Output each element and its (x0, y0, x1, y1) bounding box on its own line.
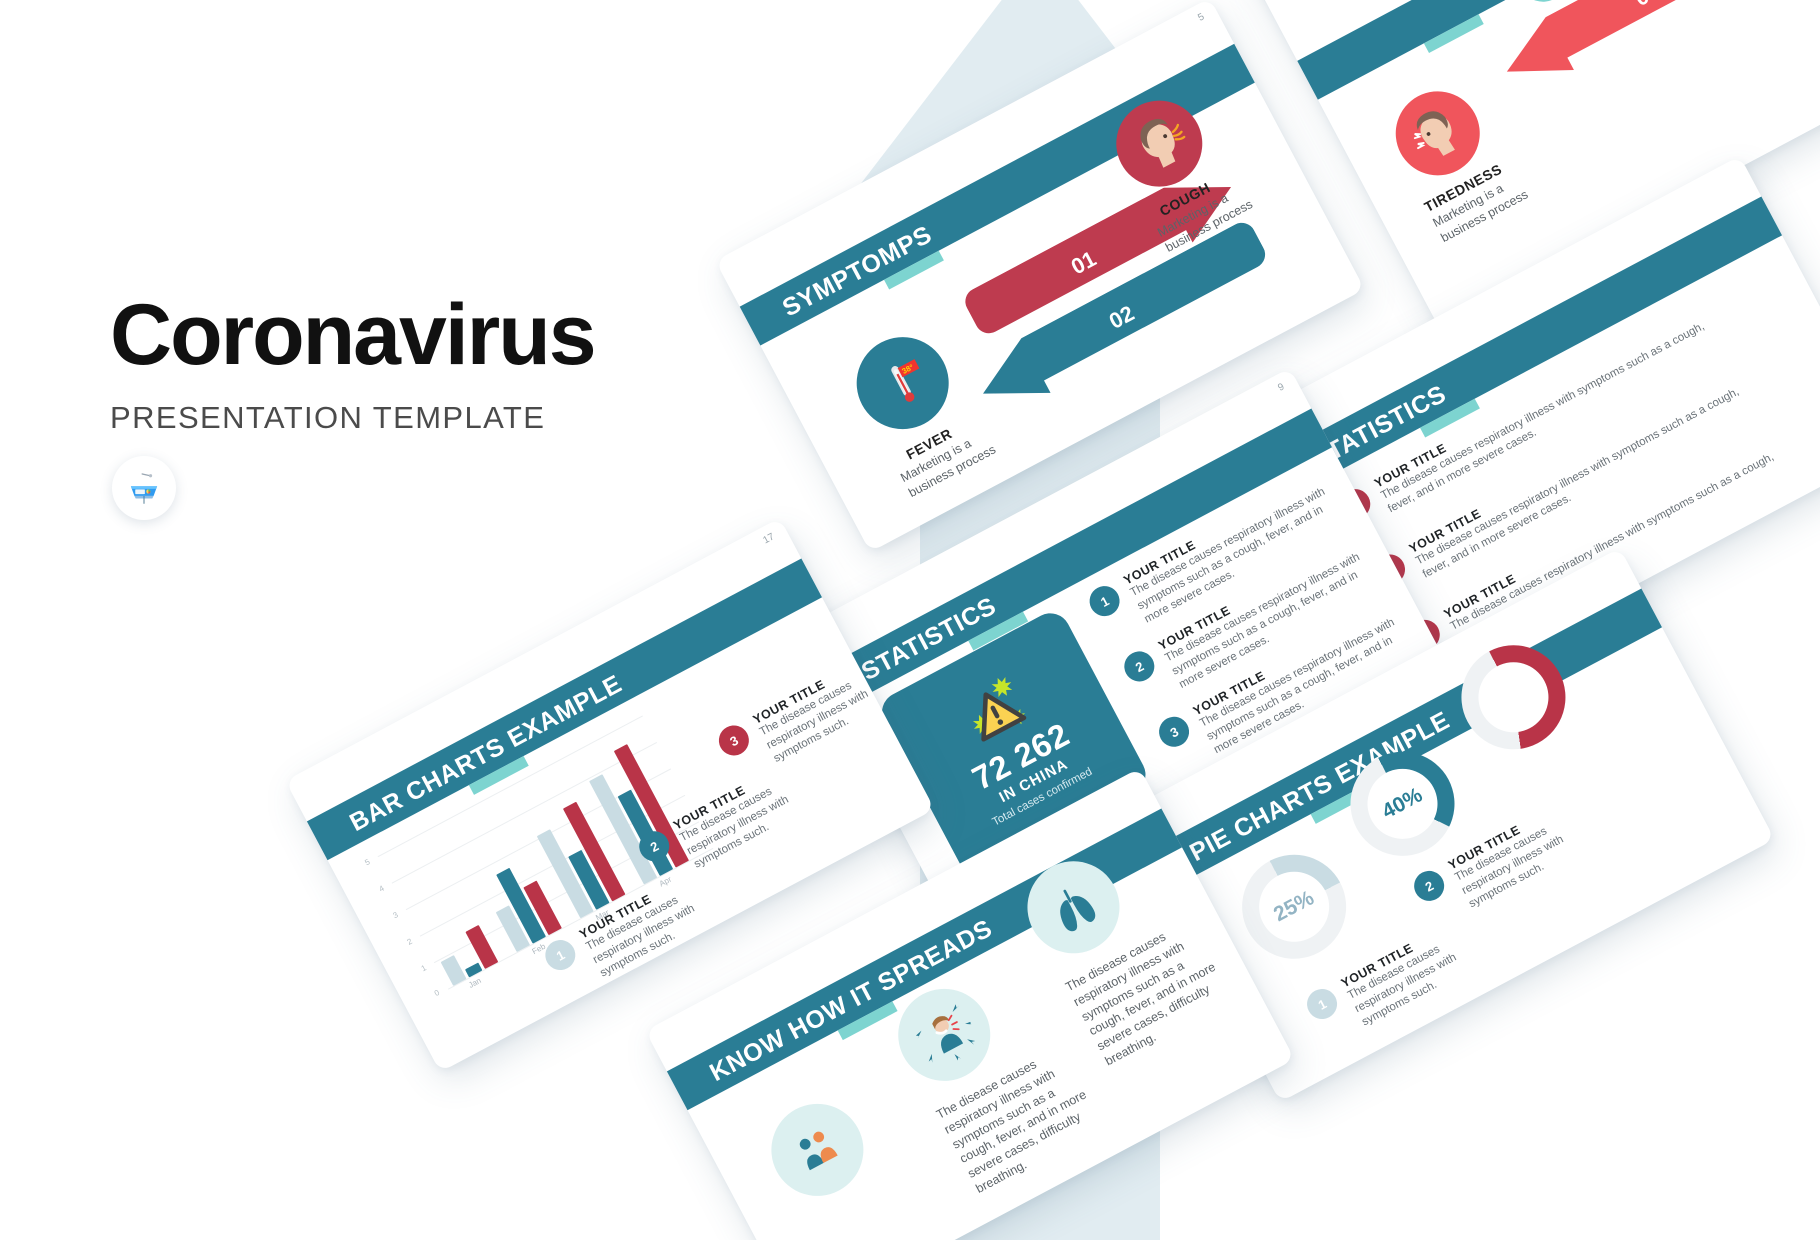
lungs-icon (1037, 871, 1110, 944)
page-title: Coronavirus (110, 292, 730, 378)
donut-25-label: 25% (1270, 886, 1318, 927)
two-people-icon (781, 1113, 854, 1186)
two-people-icon-medallion (755, 1088, 879, 1212)
coughing-face-icon (1117, 102, 1201, 186)
poster-canvas: Coronavirus PRESENTATION TEMPLATE SYMPTO… (0, 0, 1820, 1240)
fever-text: Marketing is a business process (898, 420, 1011, 501)
bullet-number: 1 (540, 935, 581, 976)
sneezing-person-icon (905, 996, 983, 1074)
donut-chart-25: 25% (1224, 836, 1365, 977)
slide-page-number: 9 (1276, 381, 1286, 393)
hero-title-block: Coronavirus PRESENTATION TEMPLATE (110, 292, 730, 436)
donut-40-label: 40% (1378, 783, 1426, 824)
page-subtitle: PRESENTATION TEMPLATE (110, 400, 730, 436)
slide-page-number: 5 (1196, 11, 1206, 23)
bullet-number: 1 (1084, 581, 1125, 622)
arrow-04: 04 (1480, 0, 1800, 105)
bullet-number: 2 (1409, 866, 1450, 907)
bullet-number: 3 (1154, 711, 1195, 752)
bullet-number: 3 (714, 720, 755, 761)
bullet-number: 1 (1302, 984, 1343, 1025)
keynote-presentation-icon (112, 456, 176, 520)
tired-face-icon (1397, 93, 1478, 174)
slide-page-number: 17 (761, 531, 776, 546)
thermometer-icon: 38° (868, 348, 938, 418)
bullet-number: 2 (1119, 646, 1160, 687)
